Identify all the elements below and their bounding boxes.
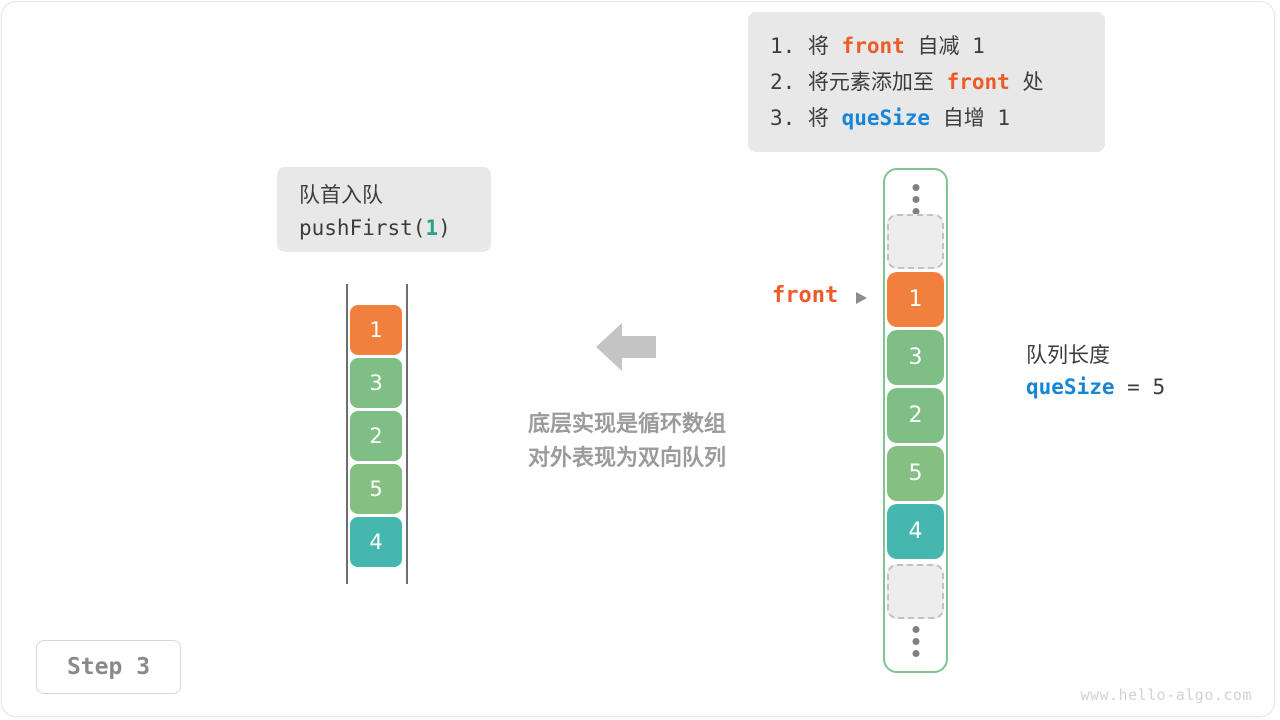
array-slot-2: 3 [887, 330, 944, 385]
instruction-line-2: 2. 将元素添加至 front 处 [770, 64, 1083, 100]
instruction-3-keyword: queSize [842, 106, 931, 130]
front-pointer-arrow-icon [856, 292, 867, 304]
instruction-line-3: 3. 将 queSize 自增 1 [770, 100, 1083, 136]
front-pointer-label: front [772, 283, 838, 308]
operation-call-prefix: pushFirst( [299, 216, 425, 240]
watermark: www.hello-algo.com [1080, 686, 1252, 704]
quesize-expression: queSize = 5 [1026, 370, 1165, 404]
deque-rail-right [406, 284, 408, 584]
quesize-value: 5 [1152, 375, 1165, 399]
array-slot-0 [887, 214, 944, 269]
instruction-box: 1. 将 front 自减 1 2. 将元素添加至 front 处 3. 将 q… [748, 12, 1105, 152]
instruction-line-1: 1. 将 front 自减 1 [770, 28, 1083, 64]
quesize-title: 队列长度 [1026, 340, 1165, 370]
quesize-name: queSize [1026, 375, 1115, 399]
instruction-2-prefix: 2. 将元素添加至 [770, 70, 947, 94]
deque-cell-3: 5 [350, 464, 402, 514]
center-note: 底层实现是循环数组对外表现为双向队列 [497, 408, 757, 476]
instruction-1-suffix: 自减 1 [905, 34, 985, 58]
array-slot-6 [887, 564, 944, 619]
operation-call: pushFirst(1) [299, 211, 469, 245]
circular-array-container: 1 3 2 5 4 [883, 168, 948, 673]
array-slot-3: 2 [887, 388, 944, 443]
instruction-2-suffix: 处 [1010, 70, 1044, 94]
deque-cell-2: 2 [350, 411, 402, 461]
deque-cell-4: 4 [350, 517, 402, 567]
array-slot-5: 4 [887, 504, 944, 559]
quesize-annotation: 队列长度 queSize = 5 [1026, 340, 1165, 404]
operation-call-arg: 1 [425, 216, 438, 240]
array-slot-4: 5 [887, 446, 944, 501]
center-note-line1: 底层实现是循环数组 [528, 412, 726, 437]
operation-call-suffix: ) [438, 216, 451, 240]
operation-title: 队首入队 [299, 179, 469, 211]
array-slot-1: 1 [887, 272, 944, 327]
instruction-2-keyword: front [947, 70, 1010, 94]
deque-cell-0: 1 [350, 305, 402, 355]
instruction-3-suffix: 自增 1 [930, 106, 1010, 130]
instruction-3-prefix: 3. 将 [770, 106, 842, 130]
array-bottom-ellipsis-icon [912, 626, 919, 657]
deque-cell-1: 3 [350, 358, 402, 408]
instruction-1-keyword: front [842, 34, 905, 58]
diagram-canvas: 1. 将 front 自减 1 2. 将元素添加至 front 处 3. 将 q… [0, 0, 1280, 720]
quesize-equals: = [1115, 375, 1153, 399]
center-note-line2: 对外表现为双向队列 [528, 446, 726, 471]
transform-arrow-icon [596, 320, 656, 374]
array-top-ellipsis-icon [912, 184, 919, 215]
instruction-1-prefix: 1. 将 [770, 34, 842, 58]
deque-rail-left [346, 284, 348, 584]
step-badge: Step 3 [36, 640, 181, 694]
logical-deque: 1 3 2 5 4 [346, 284, 408, 584]
operation-label-box: 队首入队 pushFirst(1) [277, 167, 491, 252]
